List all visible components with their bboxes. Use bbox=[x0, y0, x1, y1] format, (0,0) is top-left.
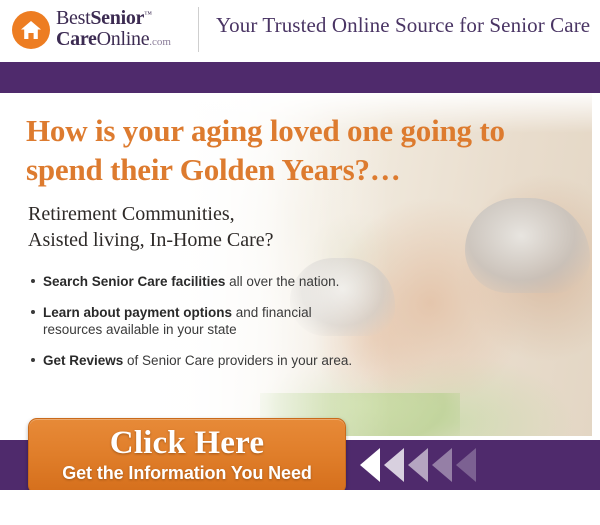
benefit-headline: Get Reviews bbox=[43, 353, 123, 368]
list-item: Learn about payment options and financia… bbox=[30, 304, 360, 338]
brand-tagline: Your Trusted Online Source for Senior Ca… bbox=[216, 13, 590, 38]
left-triangle-icon bbox=[360, 448, 380, 482]
brand-logo[interactable]: BestSenior™ CareOnline.com bbox=[12, 6, 187, 54]
hero-subheadline: Retirement Communities, Asisted living, … bbox=[28, 201, 358, 253]
brand-word-care: Care bbox=[56, 28, 97, 50]
brand-wordmark-line2: CareOnline.com bbox=[56, 29, 196, 49]
cta-primary-label: Click Here bbox=[29, 424, 345, 462]
brand-word-domain: .com bbox=[149, 36, 171, 48]
click-here-button[interactable]: Click Here Get the Information You Need bbox=[28, 418, 346, 494]
advertisement-banner: BestSenior™ CareOnline.com Your Trusted … bbox=[0, 0, 600, 525]
benefit-list: Search Senior Care facilities all over t… bbox=[30, 273, 360, 383]
left-triangle-icon bbox=[432, 448, 452, 482]
list-item: Get Reviews of Senior Care providers in … bbox=[30, 352, 360, 369]
hero-subheadline-line1: Retirement Communities, bbox=[28, 201, 358, 227]
top-purple-bar bbox=[0, 62, 600, 93]
hero-subheadline-line2: Asisted living, In-Home Care? bbox=[28, 227, 358, 253]
list-item: Search Senior Care facilities all over t… bbox=[30, 273, 360, 290]
brand-wordmark-line1: BestSenior™ bbox=[56, 8, 196, 28]
header-divider bbox=[198, 7, 199, 52]
trademark-icon: ™ bbox=[144, 9, 152, 18]
house-in-circle-icon bbox=[12, 11, 50, 49]
brand-word-online: Online bbox=[97, 28, 150, 50]
hero-right-margin bbox=[592, 93, 600, 436]
benefit-detail: all over the nation. bbox=[225, 274, 339, 289]
pointing-arrows bbox=[360, 448, 480, 482]
benefit-detail: of Senior Care providers in your area. bbox=[123, 353, 352, 368]
footer-whitespace bbox=[0, 490, 600, 525]
header: BestSenior™ CareOnline.com Your Trusted … bbox=[0, 0, 600, 62]
benefit-headline: Learn about payment options bbox=[43, 305, 232, 320]
left-triangle-icon bbox=[456, 448, 476, 482]
brand-word-senior: Senior bbox=[90, 7, 144, 29]
hero-headline: How is your aging loved one going to spe… bbox=[26, 111, 556, 189]
benefit-headline: Search Senior Care facilities bbox=[43, 274, 225, 289]
hero-panel: How is your aging loved one going to spe… bbox=[0, 93, 592, 436]
left-triangle-icon bbox=[384, 448, 404, 482]
left-triangle-icon bbox=[408, 448, 428, 482]
cta-secondary-label: Get the Information You Need bbox=[29, 462, 345, 484]
brand-wordmark: BestSenior™ CareOnline.com bbox=[56, 8, 196, 49]
brand-word-best: Best bbox=[56, 7, 90, 29]
